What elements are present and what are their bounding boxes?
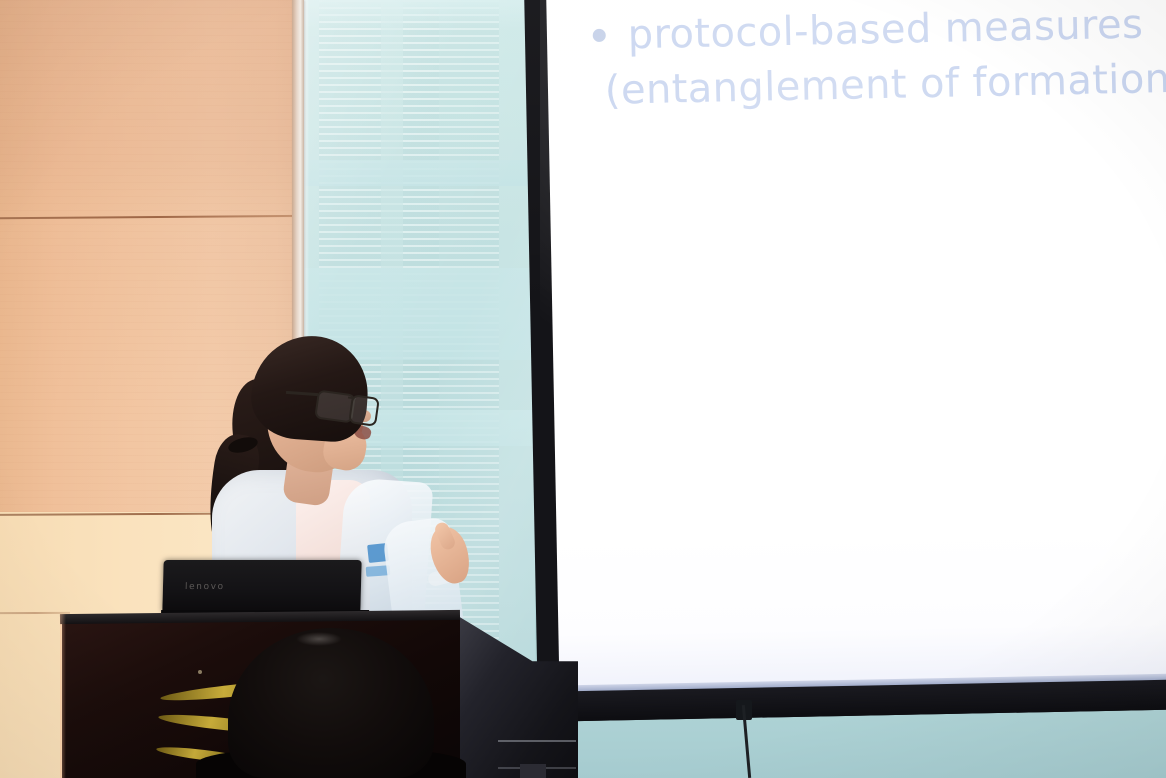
eyeglasses-lens bbox=[348, 394, 380, 427]
bullet-dot-icon bbox=[593, 29, 606, 42]
window-frame bbox=[292, 0, 304, 350]
slide-text-block: protocol-based measures (entanglement of… bbox=[627, 0, 1166, 119]
slide-content: protocol-based measures (entanglement of… bbox=[548, 0, 1166, 700]
podium-panel-seam bbox=[498, 740, 576, 742]
podium-highlight-speck bbox=[198, 670, 202, 674]
audience-hair-highlight bbox=[296, 632, 342, 646]
podium-handle-recess bbox=[520, 764, 546, 778]
lecture-photo-scene: protocol-based measures (entanglement of… bbox=[0, 0, 1166, 778]
presenter-laptop[interactable]: lenovo bbox=[163, 560, 361, 618]
laptop-lid: lenovo bbox=[162, 560, 361, 612]
podium-edge-highlight bbox=[60, 614, 66, 778]
hair-top bbox=[249, 332, 372, 444]
slide-bullet-item: protocol-based measures (entanglement of… bbox=[592, 0, 1166, 119]
laptop-brand-logo: lenovo bbox=[185, 582, 225, 592]
slide-line-2: (entanglement of formation bbox=[604, 52, 1166, 119]
